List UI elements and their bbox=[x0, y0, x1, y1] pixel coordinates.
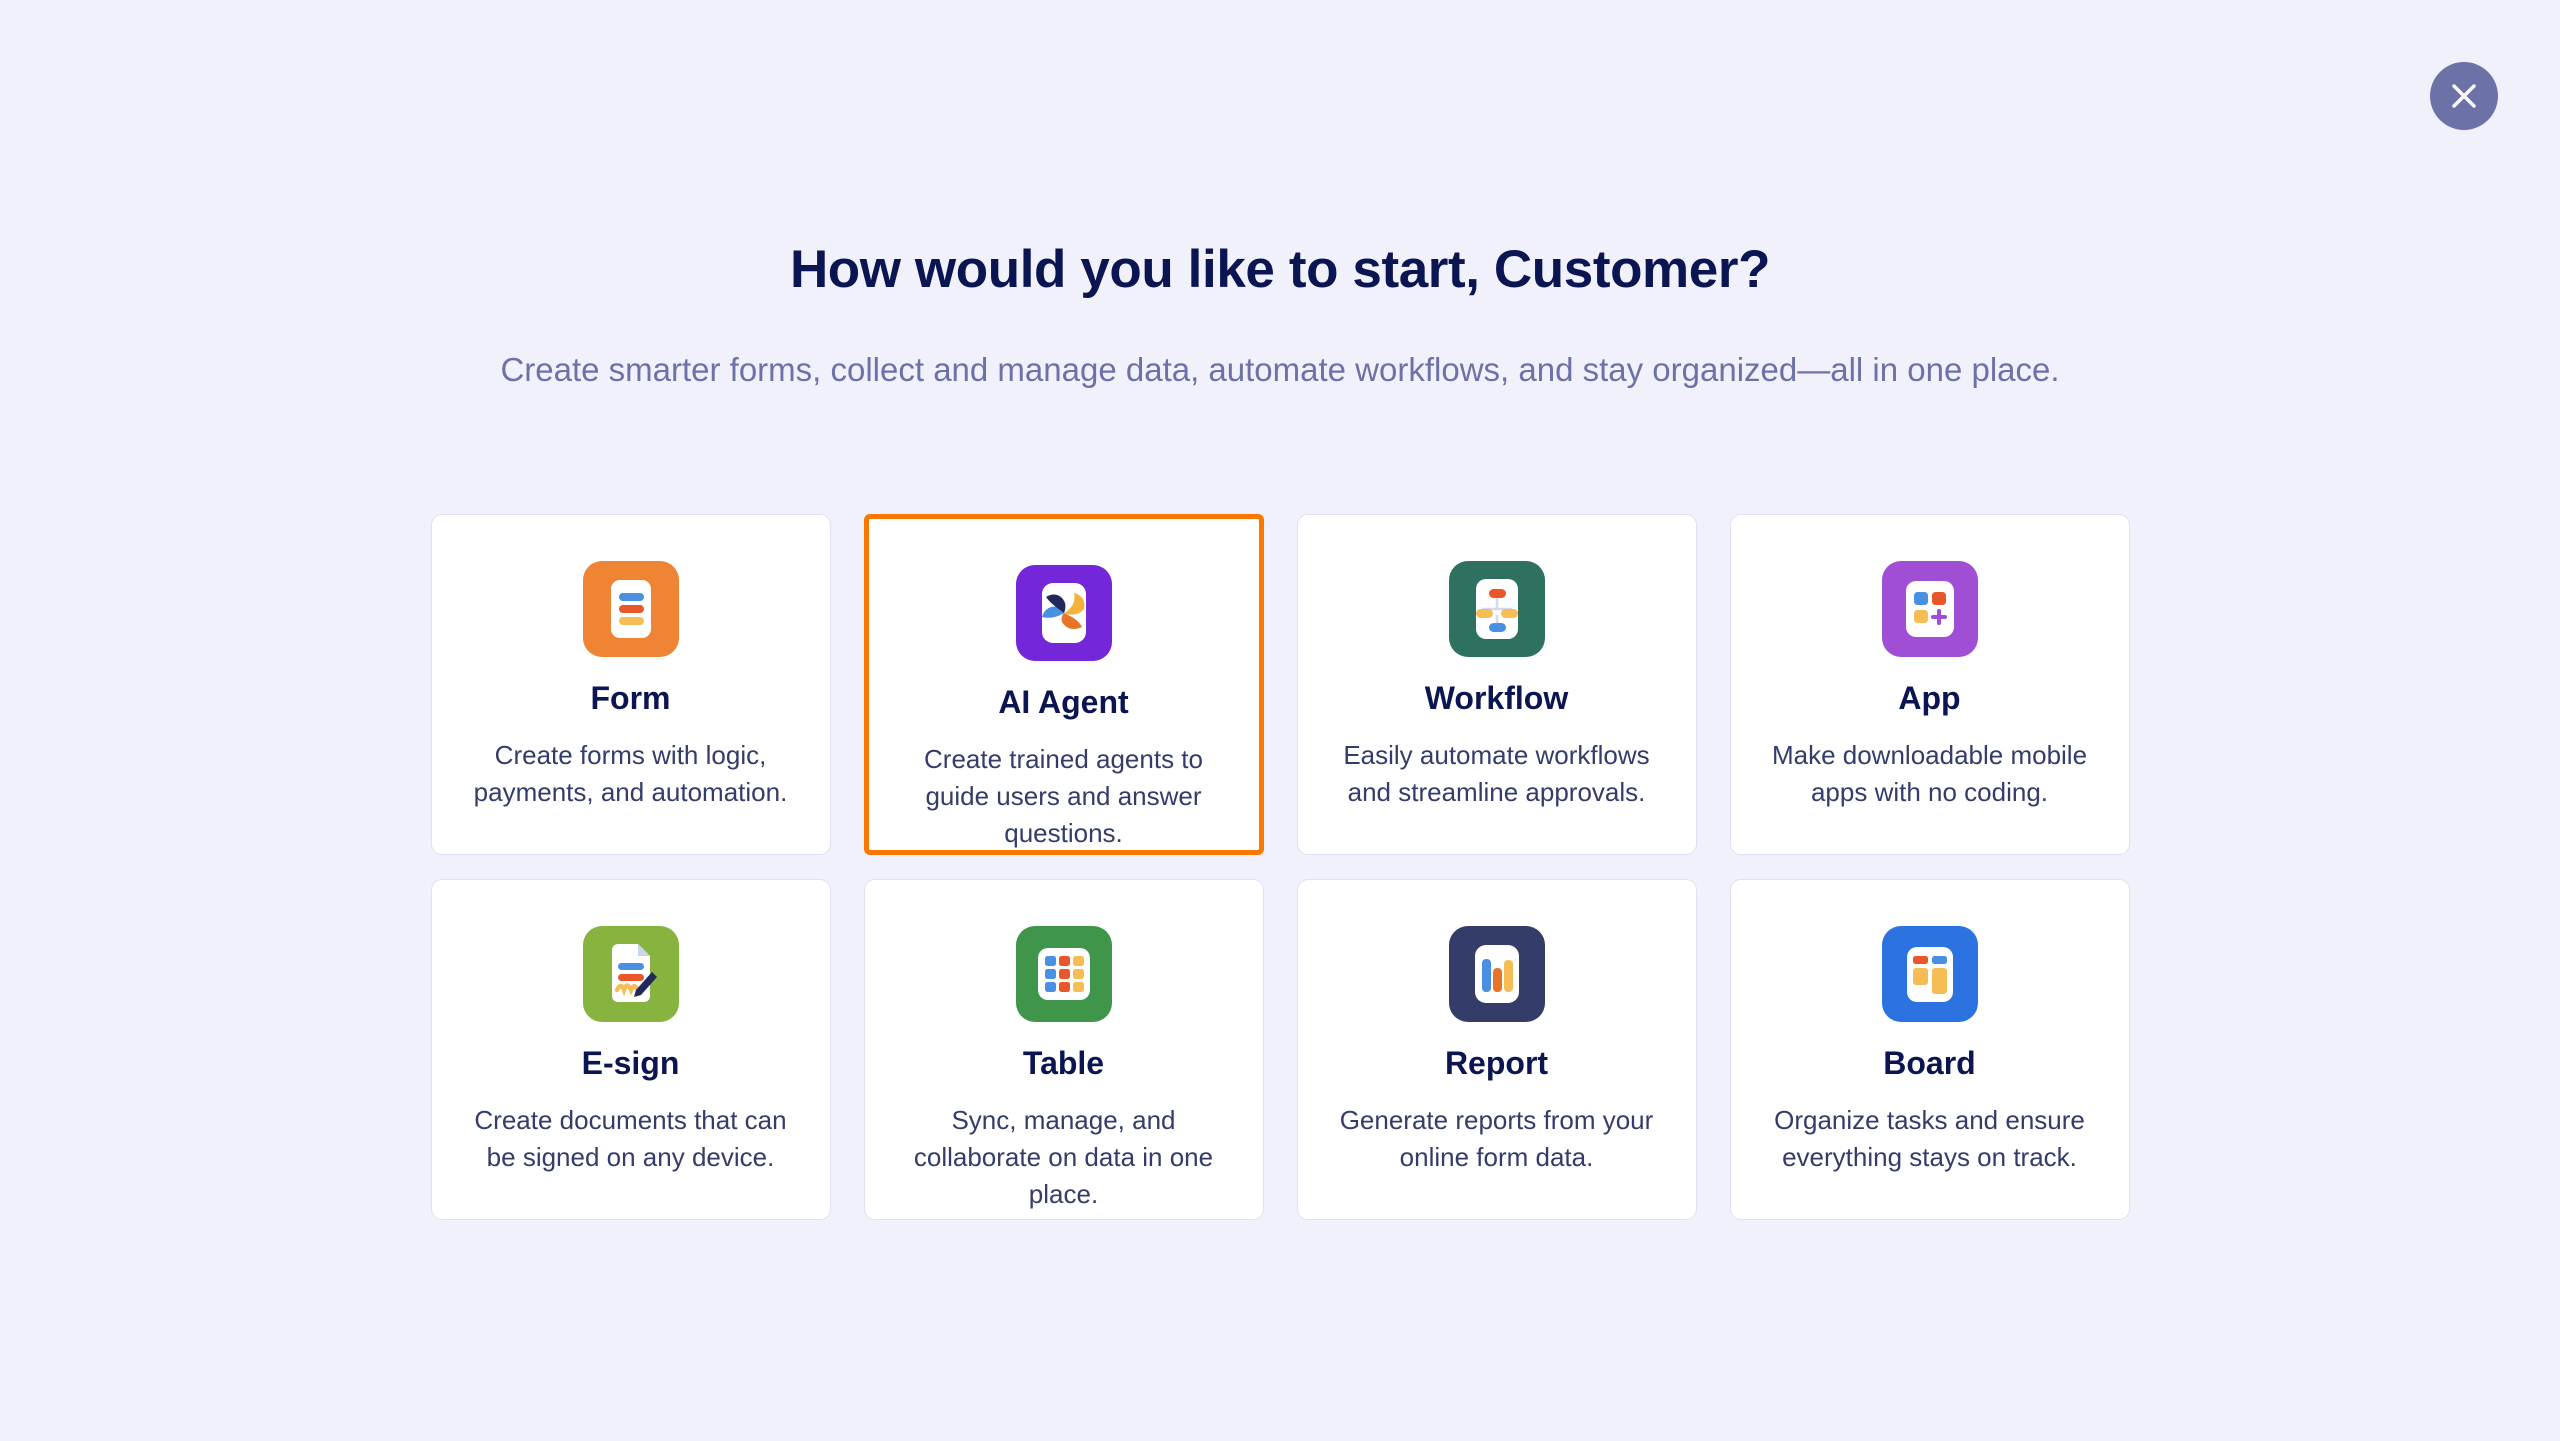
card-description: Sync, manage, and collaborate on data in… bbox=[899, 1102, 1229, 1213]
card-title: App bbox=[1898, 679, 1960, 717]
board-kanban-icon bbox=[1882, 926, 1978, 1022]
app-grid-icon bbox=[1882, 561, 1978, 657]
start-option-card-table[interactable]: Table Sync, manage, and collaborate on d… bbox=[864, 879, 1264, 1220]
workflow-icon bbox=[1449, 561, 1545, 657]
card-title: Board bbox=[1883, 1044, 1975, 1082]
page-header: How would you like to start, Customer? C… bbox=[0, 0, 2560, 392]
start-option-card-report[interactable]: Report Generate reports from your online… bbox=[1297, 879, 1697, 1220]
start-option-card-e-sign[interactable]: E-sign Create documents that can be sign… bbox=[431, 879, 831, 1220]
card-description: Make downloadable mobile apps with no co… bbox=[1765, 737, 2095, 811]
card-description: Create forms with logic, payments, and a… bbox=[466, 737, 796, 811]
card-title: Workflow bbox=[1425, 679, 1568, 717]
start-option-card-board[interactable]: Board Organize tasks and ensure everythi… bbox=[1730, 879, 2130, 1220]
card-title: E-sign bbox=[582, 1044, 680, 1082]
card-title: AI Agent bbox=[998, 683, 1128, 721]
card-description: Easily automate workflows and streamline… bbox=[1332, 737, 1662, 811]
card-title: Report bbox=[1445, 1044, 1548, 1082]
card-description: Generate reports from your online form d… bbox=[1332, 1102, 1662, 1176]
start-option-card-form[interactable]: Form Create forms with logic, payments, … bbox=[431, 514, 831, 855]
form-icon bbox=[583, 561, 679, 657]
page-title: How would you like to start, Customer? bbox=[0, 240, 2560, 301]
card-description: Organize tasks and ensure everything sta… bbox=[1765, 1102, 2095, 1176]
esign-icon bbox=[583, 926, 679, 1022]
card-description: Create documents that can be signed on a… bbox=[466, 1102, 796, 1176]
card-description: Create trained agents to guide users and… bbox=[894, 741, 1234, 852]
report-bar-chart-icon bbox=[1449, 926, 1545, 1022]
card-title: Table bbox=[1023, 1044, 1104, 1082]
table-grid-icon bbox=[1016, 926, 1112, 1022]
start-option-card-ai-agent[interactable]: AI Agent Create trained agents to guide … bbox=[864, 514, 1264, 855]
page-subtitle: Create smarter forms, collect and manage… bbox=[0, 349, 2560, 392]
start-option-card-app[interactable]: App Make downloadable mobile apps with n… bbox=[1730, 514, 2130, 855]
ai-agent-sparkle-icon bbox=[1016, 565, 1112, 661]
card-title: Form bbox=[591, 679, 671, 717]
start-option-card-workflow[interactable]: Workflow Easily automate workflows and s… bbox=[1297, 514, 1697, 855]
start-options-grid: Form Create forms with logic, payments, … bbox=[430, 514, 2130, 1220]
